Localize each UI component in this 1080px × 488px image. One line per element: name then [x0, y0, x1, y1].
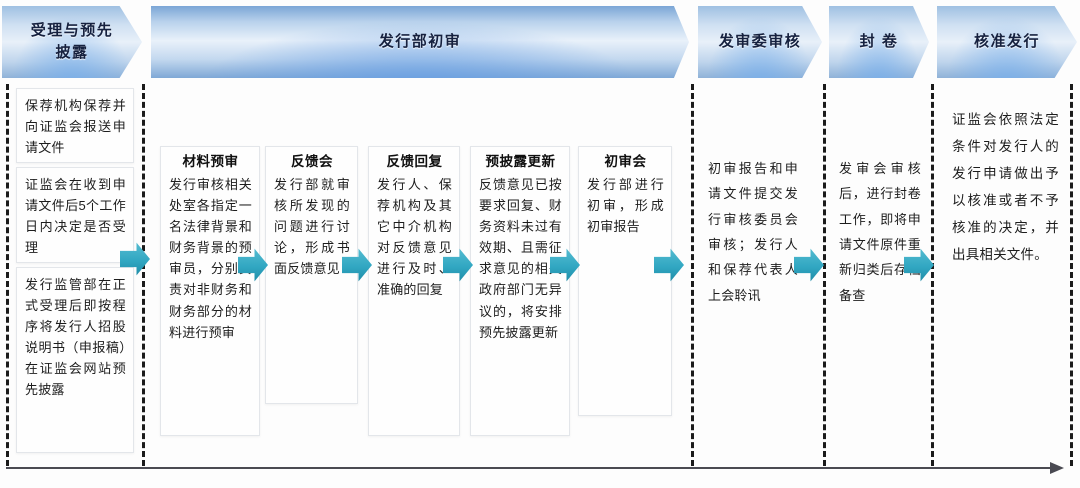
- banner-acceptance-line1: 受理与预先: [31, 22, 114, 39]
- section-divider-left-edge: [6, 84, 9, 466]
- banner-sealing: 封 卷: [829, 6, 929, 78]
- card-sponsor-submit-body: 保荐机构保荐并向证监会报送申请文件: [25, 95, 126, 158]
- section-divider-acceptance-issuance: [142, 84, 145, 466]
- timeline-arrowhead-icon: [1050, 462, 1064, 474]
- card-csrc-approval-decision: 证监会依照法定条件对发行人的发行申请做出予以核准或者不予核准的决定，并出具相关文…: [944, 100, 1066, 320]
- card-material-pre-review: 材料预审 发行审核相关处室各指定一名法律背景和财务背景的预审员，分别负责对非财务…: [160, 146, 260, 436]
- card-feedback-reply-title: 反馈回复: [377, 153, 452, 171]
- section-divider-right-edge: [1070, 84, 1073, 466]
- section-divider-committee-sealing: [823, 84, 826, 466]
- banner-approval: 核准发行: [937, 6, 1077, 78]
- card-preliminary-review-meeting-title: 初审会: [587, 153, 664, 171]
- card-pre-disclosure-prospectus-body: 发行监管部在正式受理后即按程序将发行人招股说明书（申报稿）在证监会网站预先披露: [25, 274, 126, 400]
- card-pre-disclosure-update-title: 预披露更新: [479, 153, 562, 171]
- banner-acceptance: 受理与预先 披露: [2, 6, 142, 78]
- card-csrc-acceptance-5days: 证监会在收到申请文件后5个工作日内决定是否受理: [16, 167, 134, 263]
- section-divider-issuance-committee: [691, 84, 694, 466]
- banner-issuance-committee-review: 发审委审核: [698, 6, 822, 78]
- card-material-pre-review-title: 材料预审: [169, 153, 252, 171]
- timeline-line: [6, 467, 1050, 469]
- card-csrc-acceptance-5days-body: 证监会在收到申请文件后5个工作日内决定是否受理: [25, 174, 126, 258]
- banner-sealing-label: 封 卷: [854, 31, 905, 54]
- card-csrc-approval-decision-body: 证监会依照法定条件对发行人的发行申请做出予以核准或者不予核准的决定，并出具相关文…: [952, 106, 1059, 268]
- card-preliminary-review-meeting: 初审会 发行部进行初审，形成初审报告: [578, 146, 672, 416]
- banner-acceptance-line2: 披露: [55, 44, 88, 61]
- banner-issuance-dept-label: 发行部初审: [373, 31, 468, 54]
- card-feedback-reply: 反馈回复 发行人、保荐机构及其它中介机构对反馈意见进行及时、准确的回复: [368, 146, 460, 436]
- banner-committee-label: 发审委审核: [713, 31, 808, 54]
- card-pre-disclosure-update-body: 反馈意见已按要求回复、财务资料未过有效期、且需征求意见的相关政府部门无异议的，将…: [479, 174, 562, 342]
- card-preliminary-review-meeting-body: 发行部进行初审，形成初审报告: [587, 174, 664, 237]
- card-sponsor-submit: 保荐机构保荐并向证监会报送申请文件: [16, 88, 134, 163]
- banner-acceptance-label: 受理与预先 披露: [25, 20, 120, 65]
- card-feedback-meeting: 反馈会 发行部就审核所发现的问题进行讨论，形成书面反馈意见: [265, 146, 358, 404]
- card-feedback-meeting-title: 反馈会: [274, 153, 350, 171]
- card-pre-disclosure-update: 预披露更新 反馈意见已按要求回复、财务资料未过有效期、且需征求意见的相关政府部门…: [470, 146, 570, 436]
- section-divider-sealing-approval: [931, 84, 934, 466]
- card-sealing-archive-body: 发审会审核后，进行封卷工作，即将申请文件原件重新归类后存档备查: [839, 156, 921, 308]
- card-feedback-meeting-body: 发行部就审核所发现的问题进行讨论，形成书面反馈意见: [274, 174, 350, 279]
- card-feedback-reply-body: 发行人、保荐机构及其它中介机构对反馈意见进行及时、准确的回复: [377, 174, 452, 300]
- timeline-arrow: [6, 462, 1064, 474]
- ipo-approval-flowchart: 受理与预先 披露 发行部初审 发审委审核 封 卷 核准发行 保荐机构保荐并向证监…: [0, 0, 1080, 488]
- card-pre-disclosure-prospectus: 发行监管部在正式受理后即按程序将发行人招股说明书（申报稿）在证监会网站预先披露: [16, 267, 134, 453]
- banner-approval-label: 核准发行: [968, 31, 1046, 54]
- banner-issuance-dept-preliminary: 发行部初审: [151, 6, 689, 78]
- card-committee-review-hearing: 初审报告和申请文件提交发行审核委员会审核；发行人和保荐代表人上会聆讯: [700, 150, 805, 410]
- card-committee-review-hearing-body: 初审报告和申请文件提交发行审核委员会审核；发行人和保荐代表人上会聆讯: [708, 156, 798, 308]
